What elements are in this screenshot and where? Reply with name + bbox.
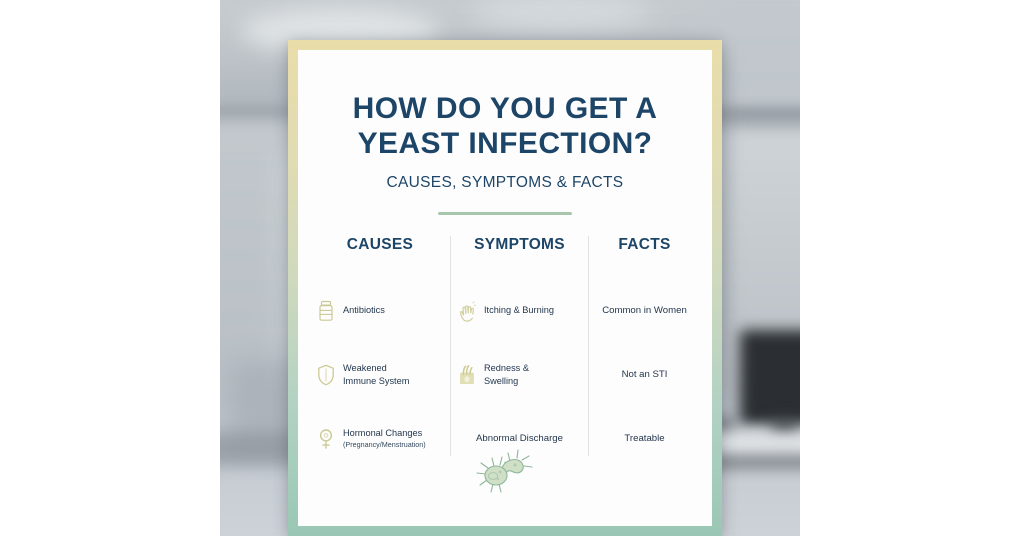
list-item: Not an STI xyxy=(595,358,694,392)
poster-title-line-1: HOW DO YOU GET A xyxy=(298,92,712,127)
list-item-label-sub: Immune System xyxy=(343,375,409,388)
column-heading-causes: CAUSES xyxy=(316,236,444,254)
pill-bottle-icon xyxy=(316,300,336,322)
list-item-label: Itching & Burning xyxy=(484,304,554,317)
photo-monitor xyxy=(740,330,800,425)
left-white-margin xyxy=(0,0,220,536)
column-causes: CAUSES Antibiotics xyxy=(310,236,450,456)
column-heading-facts: FACTS xyxy=(595,236,694,254)
screenshot-canvas: HOW DO YOU GET A YEAST INFECTION? CAUSES… xyxy=(0,0,1024,536)
column-facts: FACTS Common in Women Not an STI Treatab… xyxy=(588,236,700,456)
list-item-label: Hormonal Changes (Pregnancy/Menstruation… xyxy=(343,427,426,450)
list-item-label: Common in Women xyxy=(595,305,694,316)
list-item-label: Treatable xyxy=(595,433,694,444)
list-item-label: Abnormal Discharge xyxy=(457,433,582,444)
shield-icon xyxy=(316,364,336,386)
list-item-label: Not an STI xyxy=(595,369,694,380)
germ-microbe-icon xyxy=(472,446,538,498)
list-item-label-main: Redness & xyxy=(484,363,529,373)
column-symptoms: SYMPTOMS Itching & Burning xyxy=(450,236,588,456)
list-item: Redness & Swelling xyxy=(457,358,582,392)
poster-title-line-2: YEAST INFECTION? xyxy=(298,127,712,162)
infographic-poster: HOW DO YOU GET A YEAST INFECTION? CAUSES… xyxy=(288,40,722,536)
list-item-label: Weakened Immune System xyxy=(343,362,409,387)
list-item: Hormonal Changes (Pregnancy/Menstruation… xyxy=(316,422,444,456)
list-item-label: Antibiotics xyxy=(343,304,385,317)
list-item-label-sub: (Pregnancy/Menstruation) xyxy=(343,440,426,450)
title-divider-rule xyxy=(438,212,572,215)
list-item-label: Redness & Swelling xyxy=(484,362,529,387)
venus-symbol-icon xyxy=(316,428,336,450)
list-item: Itching & Burning xyxy=(457,294,582,328)
list-item: Common in Women xyxy=(595,294,694,328)
list-item: Treatable xyxy=(595,422,694,456)
list-item: Antibiotics xyxy=(316,294,444,328)
poster-body: HOW DO YOU GET A YEAST INFECTION? CAUSES… xyxy=(298,50,712,526)
columns-container: CAUSES Antibiotics xyxy=(298,236,712,456)
list-item: Weakened Immune System xyxy=(316,358,444,392)
right-white-margin xyxy=(800,0,1024,536)
column-heading-symptoms: SYMPTOMS xyxy=(457,236,582,254)
inflamed-skin-icon xyxy=(457,364,477,386)
poster-subtitle: CAUSES, SYMPTOMS & FACTS xyxy=(298,174,712,192)
list-item-label-main: Weakened xyxy=(343,363,387,373)
scratching-hand-icon xyxy=(457,300,477,322)
list-item-label-main: Hormonal Changes xyxy=(343,428,422,438)
list-item-label-sub: Swelling xyxy=(484,375,529,388)
